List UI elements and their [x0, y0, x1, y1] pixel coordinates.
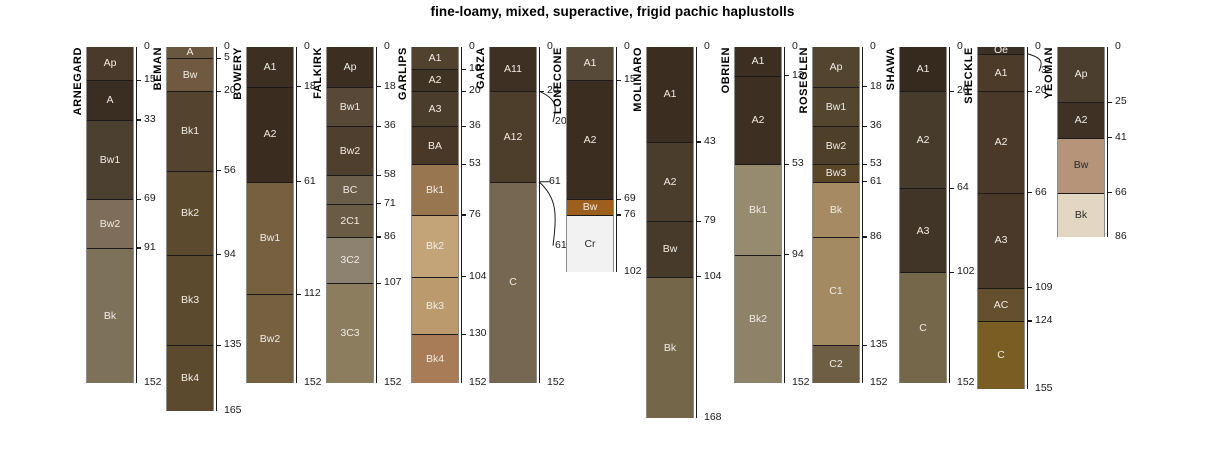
horizon-label: A12: [504, 132, 523, 143]
depth-label: 69: [144, 193, 156, 204]
horizon-label: Bk: [664, 343, 676, 354]
depth-label: 18: [870, 81, 882, 92]
horizon-label: A: [186, 47, 193, 58]
depth-label: 71: [384, 198, 396, 209]
horizon-label: A2: [1075, 115, 1088, 126]
depth-tick: [136, 80, 141, 81]
depth-label: 152: [304, 377, 322, 388]
horizon-label: Bk: [1075, 210, 1087, 221]
depth-label: 0: [957, 41, 963, 52]
horizon-label: Bw: [1074, 160, 1089, 171]
horizon-label: Bk4: [181, 373, 199, 384]
horizon-block[interactable]: Bw1: [87, 120, 133, 199]
horizon-label: Bw2: [260, 334, 280, 345]
horizon-label: A1: [429, 53, 442, 64]
depth-label: 135: [870, 339, 888, 350]
pedon-name-label: BEMAN: [152, 47, 164, 90]
horizon-label: Bw2: [100, 219, 120, 230]
horizon-label: Bw: [183, 70, 198, 81]
horizon-block[interactable]: Bk3: [167, 255, 213, 346]
depth-tick: [296, 181, 301, 182]
horizon-label: C2: [829, 359, 842, 370]
depth-label: 43: [704, 136, 716, 147]
depth-tick: [1107, 102, 1112, 103]
horizon-block[interactable]: A3: [412, 91, 458, 126]
depth-axis: [296, 47, 297, 383]
depth-label: 86: [870, 231, 882, 242]
depth-label: 25: [1115, 96, 1127, 107]
depth-label: 0: [469, 41, 475, 52]
depth-label: 155: [1035, 383, 1053, 394]
profile-column[interactable]: ApBw1Bw2Bw3BkC1C2: [812, 47, 860, 383]
depth-tick: [1027, 320, 1032, 321]
horizon-block[interactable]: Bk2: [735, 255, 781, 383]
profile-column[interactable]: A1A2A3BABk1Bk2Bk3Bk4: [411, 47, 459, 383]
depth-tick: [216, 345, 221, 346]
depth-tick: [461, 164, 466, 165]
horizon-label: Bk2: [181, 208, 199, 219]
horizon-block[interactable]: A1: [647, 47, 693, 142]
horizon-label: Bw2: [826, 141, 846, 152]
horizon-label: A1: [664, 89, 677, 100]
depth-tick: [461, 126, 466, 127]
depth-tick: [376, 283, 381, 284]
depth-label: 76: [469, 209, 481, 220]
depth-label: 61: [549, 176, 561, 187]
horizon-block[interactable]: A1: [412, 47, 458, 69]
depth-label: 18: [384, 81, 396, 92]
horizon-block[interactable]: Bw: [567, 199, 613, 214]
depth-label: 0: [304, 41, 310, 52]
horizon-block[interactable]: Bk: [87, 248, 133, 383]
depth-label: 53: [792, 158, 804, 169]
depth-axis: [376, 47, 377, 383]
depth-label: 61: [555, 240, 567, 251]
depth-tick: [136, 199, 141, 200]
horizon-label: Bk3: [181, 295, 199, 306]
horizon-block[interactable]: A2: [735, 76, 781, 164]
depth-tick: [616, 214, 621, 215]
depth-tick: [696, 276, 701, 277]
depth-tick: [696, 221, 701, 222]
horizon-block[interactable]: Bk: [1058, 193, 1104, 237]
horizon-label: 3C3: [340, 328, 359, 339]
depth-tick: [862, 164, 867, 165]
depth-label: 152: [870, 377, 888, 388]
depth-label: 20: [555, 116, 567, 127]
horizon-label: A2: [995, 137, 1008, 148]
depth-axis: [1107, 47, 1108, 237]
depth-label: 104: [704, 271, 722, 282]
depth-axis: [949, 47, 950, 383]
horizon-label: Bk2: [426, 241, 444, 252]
depth-label: 64: [957, 182, 969, 193]
pedon-name-label: GARLIPS: [397, 47, 409, 100]
depth-axis: [862, 47, 863, 383]
pedon-name-label: YEOMAN: [1043, 47, 1055, 99]
horizon-label: A3: [917, 226, 930, 237]
profile-column[interactable]: ABwBk1Bk2Bk3Bk4: [166, 47, 214, 411]
depth-label: 94: [792, 249, 804, 260]
horizon-block[interactable]: A2: [647, 142, 693, 221]
horizon-label: Bk4: [426, 354, 444, 365]
depth-label: 0: [224, 41, 230, 52]
horizon-block[interactable]: A2: [247, 87, 293, 182]
depth-tick: [461, 214, 466, 215]
depth-tick: [616, 199, 621, 200]
depth-tick: [784, 75, 789, 76]
depth-axis: [216, 47, 217, 411]
depth-tick: [376, 126, 381, 127]
depth-tick: [616, 80, 621, 81]
depth-label: 5: [224, 52, 230, 63]
depth-tick: [216, 254, 221, 255]
horizon-block[interactable]: A2: [567, 80, 613, 199]
plot-title: fine-loamy, mixed, superactive, frigid p…: [0, 4, 1225, 19]
depth-label: 53: [469, 158, 481, 169]
depth-tick: [461, 69, 466, 70]
horizon-block[interactable]: C: [900, 272, 946, 382]
profile-column[interactable]: A11A12C: [489, 47, 537, 383]
horizon-block[interactable]: Bk: [647, 277, 693, 418]
horizon-block[interactable]: Ap: [87, 47, 133, 80]
horizon-block[interactable]: A2: [978, 91, 1024, 193]
horizon-block[interactable]: A3: [978, 193, 1024, 288]
depth-tick: [216, 91, 221, 92]
horizon-label: A2: [664, 177, 677, 188]
horizon-block[interactable]: A12: [490, 91, 536, 182]
depth-tick: [461, 334, 466, 335]
horizon-label: C: [919, 323, 927, 334]
horizon-block[interactable]: A1: [978, 54, 1024, 92]
depth-label: 41: [1115, 132, 1127, 143]
depth-label: 0: [870, 41, 876, 52]
pedon-name-label: SHAWA: [885, 47, 897, 90]
depth-label: 61: [304, 176, 316, 187]
horizon-block[interactable]: C1: [813, 237, 859, 345]
depth-axis: [784, 47, 785, 383]
depth-label: 66: [1115, 187, 1127, 198]
horizon-block[interactable]: A2: [412, 69, 458, 91]
horizon-block[interactable]: C: [978, 321, 1024, 389]
horizon-block[interactable]: A1: [735, 47, 781, 76]
depth-tick: [949, 272, 954, 273]
horizon-block[interactable]: Bw: [647, 221, 693, 276]
horizon-label: 2C1: [340, 216, 359, 227]
horizon-label: A2: [752, 115, 765, 126]
horizon-label: Bk1: [181, 126, 199, 137]
horizon-label: Bw3: [826, 168, 846, 179]
depth-label: 135: [224, 339, 242, 350]
horizon-label: A1: [752, 56, 765, 67]
depth-label: 79: [704, 215, 716, 226]
horizon-label: 3C2: [340, 255, 359, 266]
horizon-block[interactable]: A11: [490, 47, 536, 91]
horizon-label: A2: [917, 135, 930, 146]
horizon-block[interactable]: C2: [813, 345, 859, 383]
horizon-block[interactable]: Bk3: [412, 277, 458, 334]
depth-label: 94: [224, 249, 236, 260]
horizon-label: A1: [917, 64, 930, 75]
horizon-block[interactable]: A2: [900, 91, 946, 188]
profile-column[interactable]: ApABw1Bw2Bk: [86, 47, 134, 383]
pedon-name-label: MOLINARO: [632, 47, 644, 112]
horizon-label: Bw1: [260, 233, 280, 244]
horizon-block[interactable]: Bk1: [167, 91, 213, 170]
soil-profile-plot: fine-loamy, mixed, superactive, frigid p…: [0, 0, 1225, 450]
depth-axis: [1027, 47, 1028, 389]
horizon-label: Bw: [583, 202, 598, 213]
depth-label: 36: [469, 120, 481, 131]
horizon-block[interactable]: BA: [412, 126, 458, 164]
horizon-block[interactable]: Bw2: [247, 294, 293, 382]
depth-label: 104: [469, 271, 487, 282]
depth-axis: [696, 47, 697, 418]
horizon-block[interactable]: Bw1: [813, 87, 859, 127]
horizon-label: BA: [428, 141, 442, 152]
horizon-label: Bw: [663, 244, 678, 255]
horizon-block[interactable]: 3C3: [327, 283, 373, 382]
horizon-label: Bk1: [426, 185, 444, 196]
profile-column[interactable]: ApA2BwBk: [1057, 47, 1105, 237]
horizon-block[interactable]: Bw2: [327, 126, 373, 175]
depth-label: 91: [144, 242, 156, 253]
depth-tick: [461, 276, 466, 277]
horizon-block[interactable]: 3C2: [327, 237, 373, 283]
horizon-block[interactable]: Bk: [813, 182, 859, 237]
depth-tick: [784, 164, 789, 165]
horizon-label: Oe: [994, 47, 1008, 54]
horizon-block[interactable]: Bk1: [735, 164, 781, 255]
depth-tick: [1027, 91, 1032, 92]
depth-label: 152: [144, 377, 162, 388]
horizon-block[interactable]: A: [167, 47, 213, 58]
horizon-label: Ap: [344, 62, 357, 73]
horizon-label: C1: [829, 286, 842, 297]
profile-column[interactable]: A1A2Bw1Bw2: [246, 47, 294, 383]
depth-tick: [216, 58, 221, 59]
horizon-label: Bw1: [100, 155, 120, 166]
profile-column[interactable]: ApBw1Bw2BC2C13C23C3: [326, 47, 374, 383]
horizon-label: A11: [504, 64, 522, 75]
pedon-name-label: ROSEGLEN: [798, 47, 810, 114]
horizon-block[interactable]: Bw1: [247, 182, 293, 295]
depth-label: 33: [144, 114, 156, 125]
horizon-label: A1: [584, 58, 597, 69]
depth-tick: [862, 86, 867, 87]
horizon-block[interactable]: BC: [327, 175, 373, 204]
horizon-block[interactable]: Bk2: [412, 215, 458, 277]
horizon-block[interactable]: Ap: [1058, 47, 1104, 102]
horizon-block[interactable]: A1: [567, 47, 613, 80]
depth-label: 0: [1035, 41, 1041, 52]
depth-tick: [136, 119, 141, 120]
horizon-label: A2: [429, 75, 442, 86]
depth-tick: [376, 175, 381, 176]
depth-label: 152: [792, 377, 810, 388]
depth-axis: [136, 47, 137, 383]
pedon-name-label: SHECKLE: [963, 47, 975, 104]
depth-label: 102: [957, 266, 975, 277]
depth-tick: [949, 91, 954, 92]
depth-tick: [862, 345, 867, 346]
horizon-block[interactable]: Bw: [1058, 138, 1104, 193]
horizon-block[interactable]: Bw2: [813, 126, 859, 164]
horizon-block[interactable]: AC: [978, 288, 1024, 321]
depth-axis: [539, 47, 540, 383]
horizon-label: A1: [995, 68, 1008, 79]
horizon-block[interactable]: Bw2: [87, 199, 133, 248]
depth-label: 36: [384, 120, 396, 131]
horizon-label: C: [509, 277, 517, 288]
horizon-label: A2: [584, 135, 597, 146]
depth-tick: [862, 126, 867, 127]
horizon-block[interactable]: Ap: [327, 47, 373, 87]
pedon-name-label: OBRIEN: [720, 47, 732, 93]
horizon-label: Bk1: [749, 205, 767, 216]
horizon-label: Bk2: [749, 314, 767, 325]
horizon-label: Bw1: [826, 102, 846, 113]
horizon-block[interactable]: 2C1: [327, 204, 373, 237]
depth-tick: [216, 170, 221, 171]
depth-label: 165: [224, 405, 242, 416]
depth-tick: [376, 86, 381, 87]
horizon-block[interactable]: Cr: [567, 215, 613, 272]
depth-label: 130: [469, 328, 487, 339]
depth-tick: [1027, 287, 1032, 288]
profile-column[interactable]: OeA1A2A3ACC: [977, 47, 1025, 389]
depth-tick: [1027, 192, 1032, 193]
depth-tick: [539, 91, 544, 92]
pedon-name-label: BOWERY: [232, 47, 244, 100]
horizon-label: Ap: [104, 58, 117, 69]
horizon-block[interactable]: C: [490, 182, 536, 383]
pedon-name-label: LONECONE: [552, 47, 564, 114]
horizon-block[interactable]: Oe: [978, 47, 1024, 54]
profile-column[interactable]: A1A2BwCr: [566, 47, 614, 272]
horizon-label: A3: [429, 104, 442, 115]
horizon-label: Bw1: [340, 102, 360, 113]
depth-label: 66: [1035, 187, 1047, 198]
depth-tick: [862, 236, 867, 237]
horizon-block[interactable]: A1: [247, 47, 293, 87]
depth-label: 58: [384, 169, 396, 180]
horizon-block[interactable]: Bw1: [327, 87, 373, 127]
depth-tick: [784, 254, 789, 255]
depth-label: 53: [870, 158, 882, 169]
depth-label: 0: [384, 41, 390, 52]
depth-tick: [136, 247, 141, 248]
depth-label: 86: [384, 231, 396, 242]
horizon-block[interactable]: Bw: [167, 58, 213, 91]
pedon-name-label: ARNEGARD: [72, 47, 84, 115]
horizon-block[interactable]: Bk4: [412, 334, 458, 383]
depth-label: 76: [624, 209, 636, 220]
horizon-label: Ap: [1075, 69, 1088, 80]
horizon-block[interactable]: Bk1: [412, 164, 458, 215]
horizon-label: A: [106, 95, 113, 106]
horizon-label: AC: [994, 300, 1009, 311]
horizon-label: Ap: [830, 62, 843, 73]
horizon-label: Cr: [584, 239, 595, 250]
horizon-label: BC: [343, 185, 358, 196]
horizon-block[interactable]: A: [87, 80, 133, 120]
pedon-name-label: GARZA: [475, 47, 487, 89]
depth-tick: [949, 188, 954, 189]
depth-label: 69: [624, 193, 636, 204]
depth-label: 56: [224, 165, 236, 176]
horizon-block[interactable]: Bw3: [813, 164, 859, 182]
depth-tick: [296, 86, 301, 87]
horizon-block[interactable]: Ap: [813, 47, 859, 87]
depth-label: 107: [384, 277, 402, 288]
depth-label: 109: [1035, 282, 1053, 293]
horizon-label: A2: [264, 129, 277, 140]
horizon-label: Bk: [104, 311, 116, 322]
depth-tick: [461, 91, 466, 92]
depth-label: 112: [304, 288, 321, 299]
depth-label: 152: [547, 377, 565, 388]
horizon-block[interactable]: A3: [900, 188, 946, 272]
depth-tick: [1107, 137, 1112, 138]
depth-label: 168: [704, 412, 722, 423]
depth-label: 0: [792, 41, 798, 52]
depth-tick: [296, 294, 301, 295]
depth-tick: [376, 236, 381, 237]
horizon-label: A3: [995, 235, 1008, 246]
horizon-label: A1: [264, 62, 277, 73]
depth-label: 124: [1035, 315, 1053, 326]
horizon-label: Bk: [830, 205, 842, 216]
horizon-block[interactable]: A2: [1058, 102, 1104, 137]
depth-label: 102: [624, 266, 642, 277]
depth-tick: [862, 181, 867, 182]
depth-label: 61: [870, 176, 882, 187]
horizon-block[interactable]: Bk4: [167, 345, 213, 411]
depth-label: 152: [957, 377, 975, 388]
depth-tick: [696, 141, 701, 142]
horizon-label: Bw2: [340, 146, 360, 157]
depth-label: 152: [469, 377, 487, 388]
horizon-block[interactable]: A1: [900, 47, 946, 91]
pedon-name-label: FALKIRK: [312, 47, 324, 99]
depth-label: 0: [704, 41, 710, 52]
depth-label: 0: [624, 41, 630, 52]
profile-column[interactable]: A1A2BwBk: [646, 47, 694, 418]
profile-column[interactable]: A1A2Bk1Bk2: [734, 47, 782, 383]
horizon-label: C: [997, 350, 1005, 361]
depth-tick: [376, 203, 381, 204]
depth-tick: [1107, 192, 1112, 193]
depth-label: 86: [1115, 231, 1127, 242]
depth-label: 36: [870, 120, 882, 131]
horizon-block[interactable]: Bk2: [167, 171, 213, 255]
horizon-label: Bk3: [426, 301, 444, 312]
profile-column[interactable]: A1A2A3C: [899, 47, 947, 383]
depth-label: 152: [384, 377, 402, 388]
depth-label: 0: [1115, 41, 1121, 52]
depth-label: 0: [144, 41, 150, 52]
